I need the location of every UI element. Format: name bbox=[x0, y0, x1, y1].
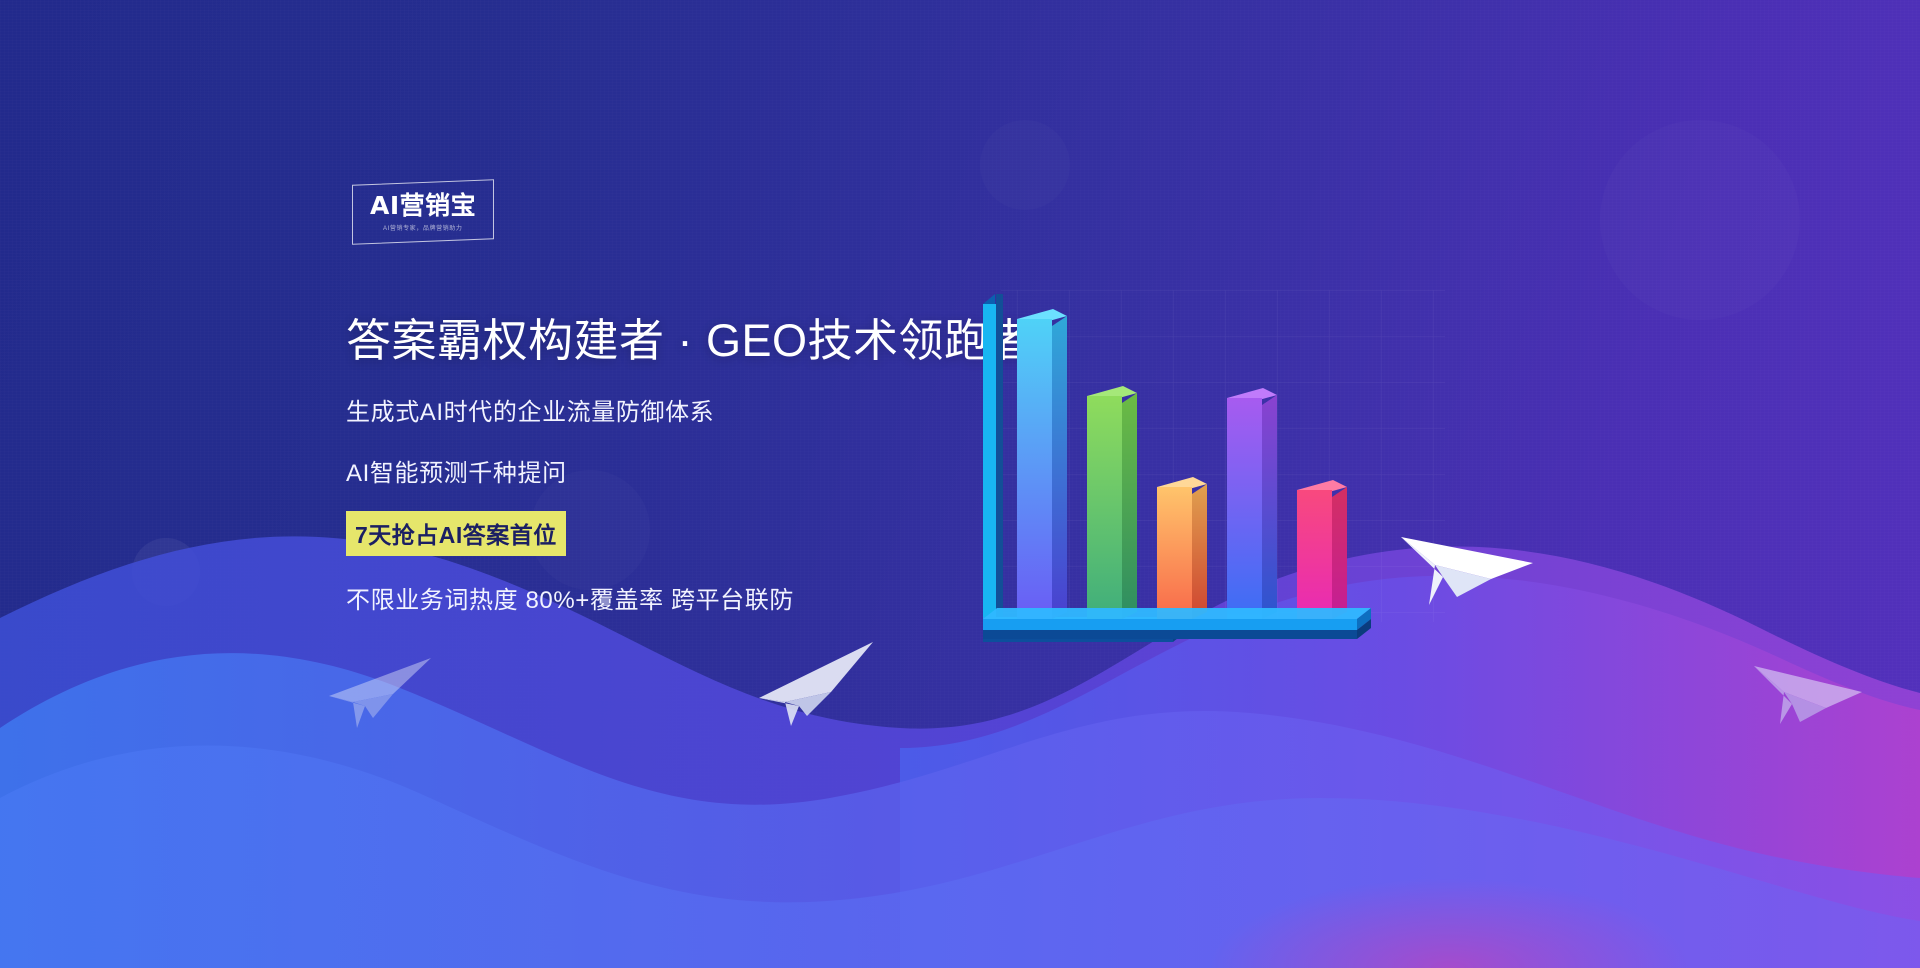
chart-y-axis bbox=[983, 294, 1003, 628]
chart-base-front bbox=[983, 608, 1371, 639]
chart-bar-2 bbox=[1087, 386, 1137, 619]
ambient-circle-4 bbox=[980, 120, 1070, 210]
hero-banner: AI营销宝 AI营销专家，品牌营销助力 答案霸权构建者 · GEO技术领跑者 生… bbox=[0, 0, 1920, 968]
chart-bar-4 bbox=[1227, 388, 1277, 619]
ambient-circle-3 bbox=[1600, 120, 1800, 320]
hero-highlight-badge: 7天抢占AI答案首位 bbox=[346, 511, 566, 556]
chart-bar-3 bbox=[1157, 477, 1207, 619]
chart-bar-1 bbox=[1017, 309, 1067, 619]
chart-grid bbox=[1001, 290, 1445, 622]
bar-chart-illustration bbox=[965, 290, 1445, 670]
logo-name: AI营销宝 bbox=[370, 193, 476, 218]
brand-logo[interactable]: AI营销宝 AI营销专家，品牌营销助力 bbox=[352, 179, 494, 244]
logo-tagline: AI营销专家，品牌营销助力 bbox=[383, 223, 462, 232]
chart-bar-5 bbox=[1297, 480, 1347, 619]
